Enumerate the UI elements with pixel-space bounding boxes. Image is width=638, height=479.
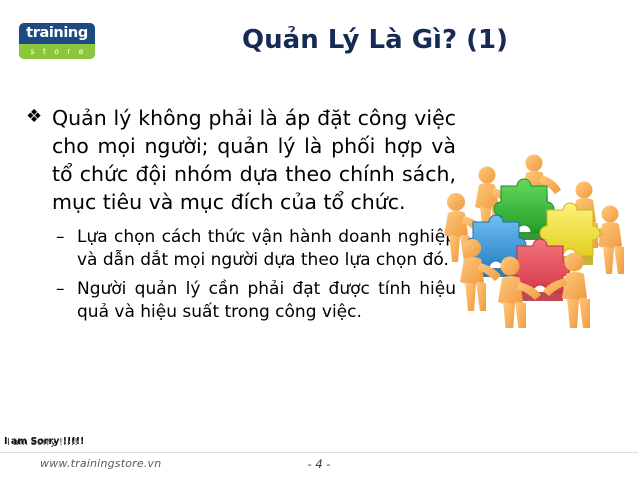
- logo-training-text: training: [26, 26, 88, 41]
- logo-bottom-band: s t o r e: [19, 44, 95, 59]
- bullet-level1-text: Quản lý không phải là áp đặt công việc c…: [52, 106, 456, 214]
- slide-body: ❖ Quản lý không phải là áp đặt công việc…: [26, 104, 456, 329]
- footer-divider: [0, 452, 638, 453]
- logo-top-band: training: [19, 23, 95, 44]
- bullet-level2-text: Người quản lý cần phải đạt được tính hiệ…: [77, 279, 456, 322]
- bullet-level2: – Lựa chọn cách thức vận hành doanh nghi…: [56, 226, 456, 272]
- slide-canvas: training s t o r e Quản Lý Là Gì? (1) ❖ …: [0, 0, 638, 479]
- page-title: Quản Lý Là Gì? (1): [140, 26, 610, 56]
- bullet-level2-text: Lựa chọn cách thức vận hành doanh nghiệp…: [77, 227, 456, 270]
- sub-bullet-list: – Lựa chọn cách thức vận hành doanh nghi…: [26, 226, 456, 323]
- teamwork-puzzle-clipart: [443, 152, 635, 328]
- bullet-level1: ❖ Quản lý không phải là áp đặt công việc…: [26, 104, 456, 216]
- footer-note: I am Sorry !!!!! I am Sorry !!!!!: [4, 437, 84, 447]
- diamond-bullet-icon: ❖: [26, 104, 42, 130]
- dash-bullet-icon: –: [56, 226, 65, 249]
- bullet-level2: – Người quản lý cần phải đạt được tính h…: [56, 278, 456, 324]
- training-store-logo: training s t o r e: [19, 23, 95, 59]
- footer-page-number: - 4 -: [0, 457, 638, 471]
- logo-store-text: s t o r e: [28, 48, 87, 56]
- dash-bullet-icon: –: [56, 278, 65, 301]
- footer-note-overlap-text: I am Sorry !!!!!: [7, 438, 78, 448]
